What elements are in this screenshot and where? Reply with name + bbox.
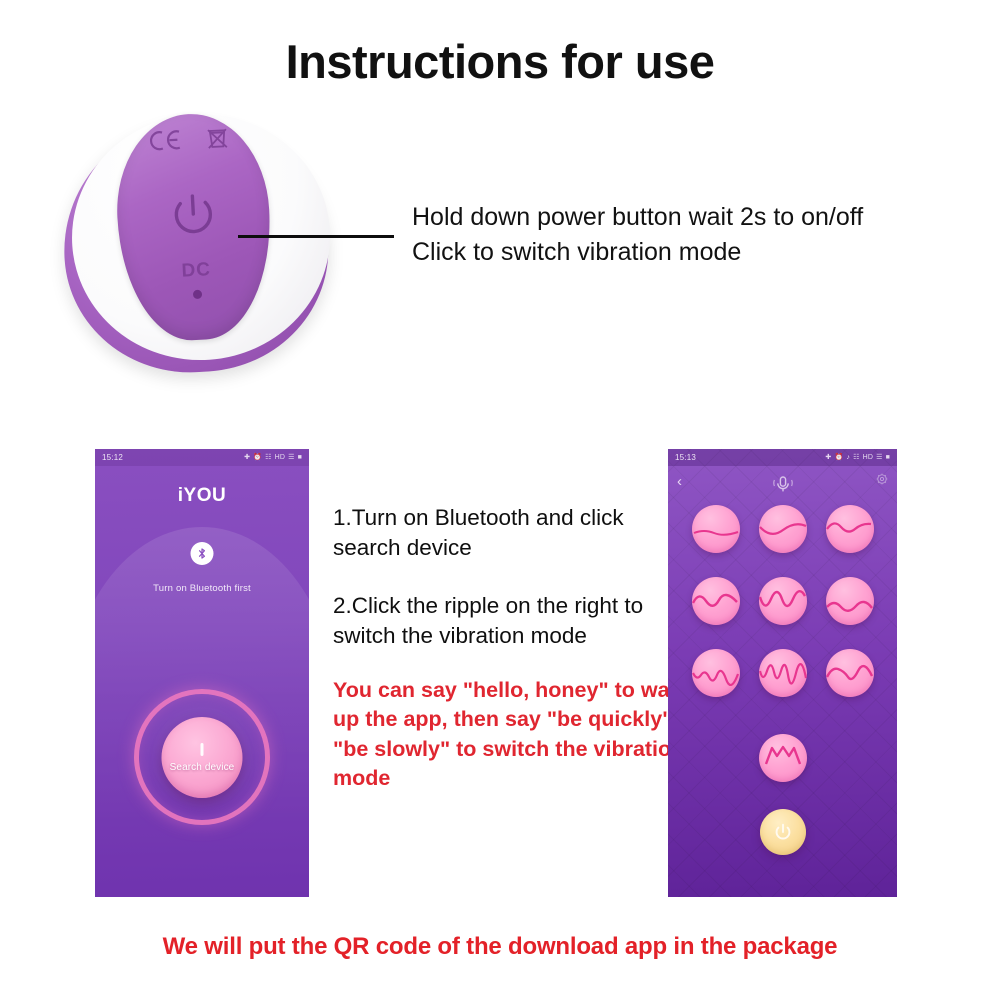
app-power-button[interactable] [760,809,806,855]
vibration-mode-button[interactable] [692,505,740,553]
settings-gear-icon[interactable] [876,472,888,490]
instruction-sheet: Instructions for use [0,0,1000,1000]
location-icon: ✚ [244,454,250,461]
hd-icon: HD [863,454,874,461]
bluetooth-glyph [196,547,209,560]
phone-screenshot-bluetooth: 15:12 ✚ ⏰ ☷ HD ☰ ■ iYOU Turn on Bluetoot… [95,449,309,897]
vibration-mode-button[interactable] [759,577,807,625]
bluetooth-hint-text: Turn on Bluetooth first [95,583,309,594]
status-icons: ✚ ⏰ ♪ ☷ HD ☰ ■ [825,454,890,461]
search-device-icon [201,743,204,756]
instruction-step-1: 1.Turn on Bluetooth and click search dev… [333,503,693,563]
device-dc-label: DC [120,256,273,286]
vibrate-icon: ☷ [853,454,859,461]
search-device-button[interactable]: Search device [162,717,243,798]
vibration-mode-button[interactable] [759,505,807,553]
ce-mark-icon [149,128,185,164]
status-bar: 15:12 ✚ ⏰ ☷ HD ☰ ■ [95,449,309,466]
remote-device-illustration: DC [56,112,366,397]
alarm-icon: ⏰ [834,454,843,461]
bluetooth-status-icon [191,542,214,565]
device-callout-line-2: Click to switch vibration mode [412,235,972,270]
device-indicator-dot [193,290,202,299]
battery-icon: ■ [886,454,890,461]
signal-icon: ☰ [288,454,294,461]
vibration-mode-button[interactable] [826,505,874,553]
device-certification-marks [113,124,267,166]
vibration-mode-button[interactable] [826,577,874,625]
vibration-mode-button[interactable] [826,649,874,697]
vibration-mode-button[interactable] [759,734,807,782]
status-bar: 15:13 ✚ ⏰ ♪ ☷ HD ☰ ■ [668,449,897,466]
vibrate-icon: ☷ [265,454,271,461]
search-device-label: Search device [170,762,235,773]
signal-icon: ☰ [876,454,882,461]
battery-icon: ■ [298,454,302,461]
alarm-icon: ⏰ [253,454,262,461]
vibration-mode-button[interactable] [759,649,807,697]
status-time: 15:12 [102,453,123,462]
status-time: 15:13 [675,453,696,462]
mute-icon: ♪ [846,454,850,461]
callout-leader-line [238,235,394,238]
weee-crossed-bin-icon [205,126,231,161]
vibration-mode-grid [668,505,897,697]
instruction-step-2: 2.Click the ripple on the right to switc… [333,591,693,651]
footer-note: We will put the QR code of the download … [0,933,1000,961]
phone-screenshot-modes: 15:13 ✚ ⏰ ♪ ☷ HD ☰ ■ ‹ [668,449,897,897]
voice-command-note: You can say "hello, honey" to wake up th… [333,676,701,794]
hd-icon: HD [275,454,286,461]
vibration-mode-button[interactable] [692,649,740,697]
vibration-mode-button[interactable] [692,577,740,625]
power-icon [772,821,794,843]
device-callout-line-1: Hold down power button wait 2s to on/off [412,200,972,235]
app-logo: iYOU [95,485,309,507]
instruction-steps: 1.Turn on Bluetooth and click search dev… [333,503,693,651]
voice-microphone-icon[interactable] [770,471,796,502]
status-icons: ✚ ⏰ ☷ HD ☰ ■ [244,454,302,461]
page-title: Instructions for use [0,34,1000,89]
device-power-button-icon[interactable] [161,182,226,252]
back-button[interactable]: ‹ [677,474,682,489]
device-callout-text: Hold down power button wait 2s to on/off… [412,200,972,269]
location-icon: ✚ [825,454,831,461]
